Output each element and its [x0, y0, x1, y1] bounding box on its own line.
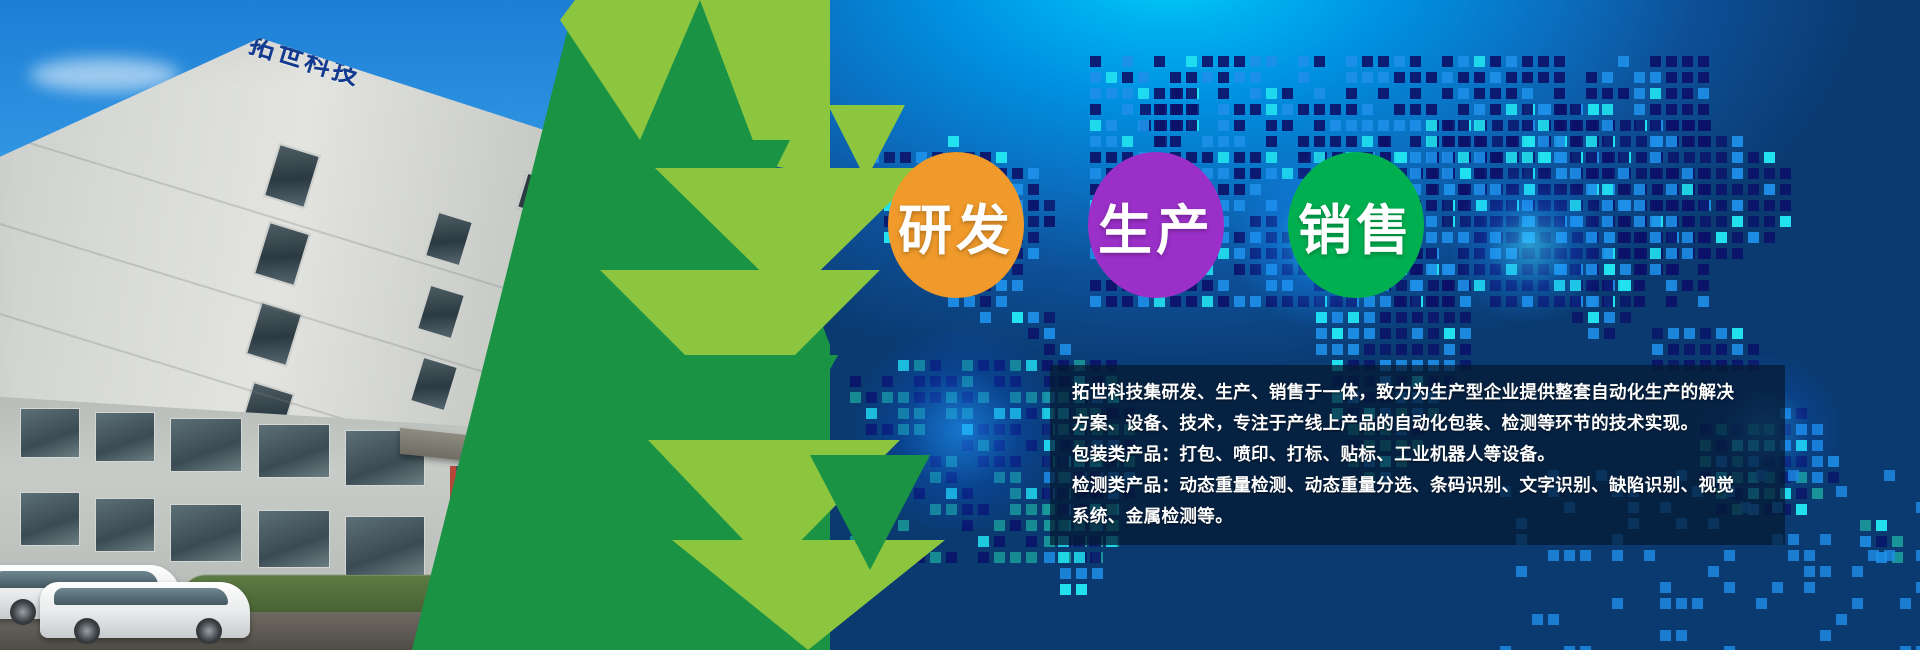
description-line: 包装类产品：打包、喷印、打标、贴标、工业机器人等设备。: [1072, 440, 1787, 471]
badge-production-label: 生产: [1098, 186, 1214, 265]
badge-rd-label: 研发: [898, 186, 1014, 265]
description-text: 拓世科技集研发、生产、销售于一体，致力为生产型企业提供整套自动化生产的解决 方案…: [1072, 378, 1787, 533]
factory-photo: 拓世科技: [0, 0, 700, 650]
promo-banner: 拓世科技: [0, 0, 1920, 650]
description-line: 方案、设备、技术，专注于产线上产品的自动化包装、检测等环节的技术实现。: [1072, 409, 1787, 440]
description-line: 系统、金属检测等。: [1072, 502, 1787, 533]
badge-sales-label: 销售: [1298, 186, 1414, 265]
badge-rd[interactable]: 研发: [888, 152, 1024, 298]
badge-production[interactable]: 生产: [1088, 152, 1224, 298]
description-line: 检测类产品：动态重量检测、动态重量分选、条码识别、文字识别、缺陷识别、视觉: [1072, 471, 1787, 502]
description-line: 拓世科技集研发、生产、销售于一体，致力为生产型企业提供整套自动化生产的解决: [1072, 378, 1787, 409]
badge-sales[interactable]: 销售: [1288, 152, 1424, 298]
parked-car: [40, 582, 250, 638]
